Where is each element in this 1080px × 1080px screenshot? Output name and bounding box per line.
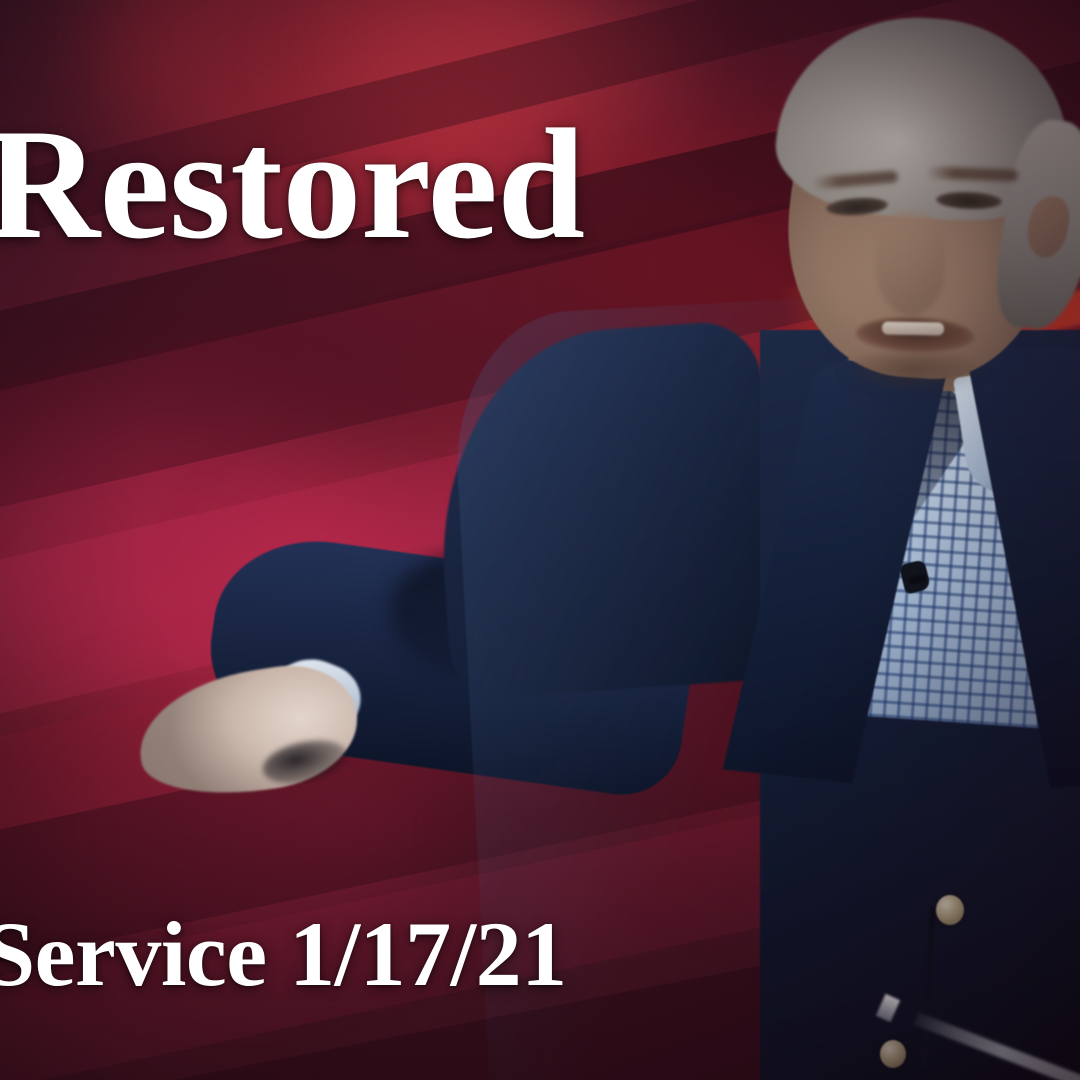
service-date-label: Service 1/17/21: [0, 908, 567, 1000]
video-thumbnail: Restored Service 1/17/21: [0, 0, 1080, 1080]
page-title: Restored: [0, 106, 585, 264]
